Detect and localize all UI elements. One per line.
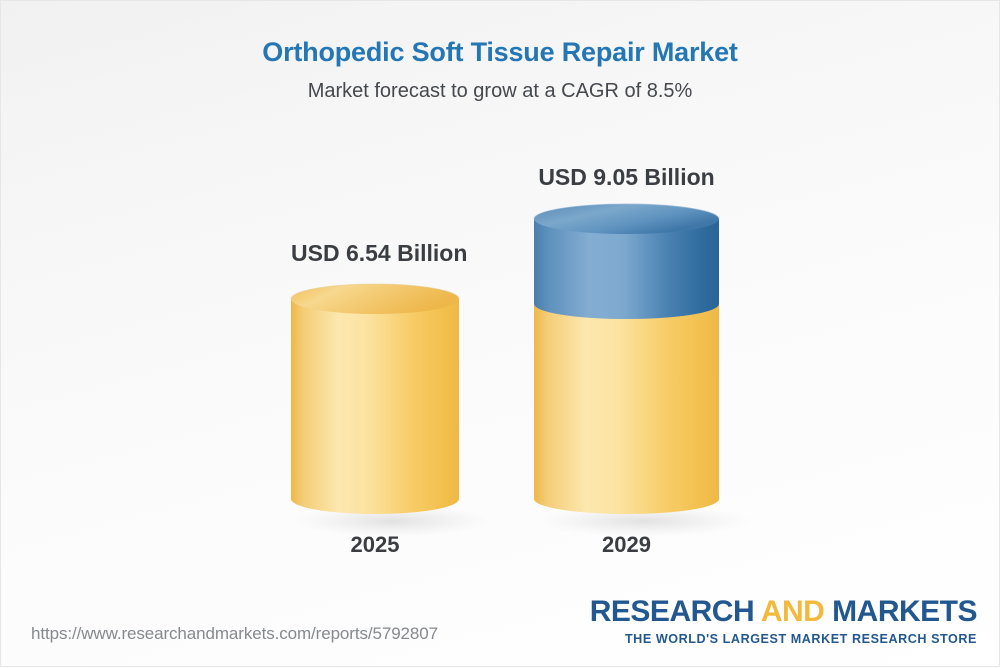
report-url[interactable]: https://www.researchandmarkets.com/repor… <box>31 624 438 644</box>
logo-word-markets: MARKETS <box>824 595 977 628</box>
chart-canvas: Orthopedic Soft Tissue Repair Market Mar… <box>0 0 1000 667</box>
bar-value-label-2029: USD 9.05 Billion <box>534 164 719 191</box>
logo-tagline: THE WORLD'S LARGEST MARKET RESEARCH STOR… <box>590 633 977 646</box>
logo-word-and: AND <box>761 595 825 628</box>
bar-body-2025 <box>291 299 459 514</box>
bar-cylinder-2029 <box>534 204 752 537</box>
bar-cylinder-2025 <box>291 284 493 537</box>
plot-area: USD 6.54 Billion 2025 USD 9.05 Billion 2… <box>1 1 1000 668</box>
bar-category-label-2029: 2029 <box>534 532 719 558</box>
logo-wordmark: RESEARCH AND MARKETS <box>590 597 977 627</box>
bar-category-label-2025: 2025 <box>291 532 459 558</box>
researchandmarkets-logo[interactable]: RESEARCH AND MARKETS THE WORLD'S LARGEST… <box>590 597 977 646</box>
bar-value-label-2025: USD 6.54 Billion <box>291 240 459 267</box>
cylinder-chart-graphics <box>1 1 1000 668</box>
logo-word-research: RESEARCH <box>590 595 761 628</box>
bar-body-lower-2029 <box>534 304 719 514</box>
